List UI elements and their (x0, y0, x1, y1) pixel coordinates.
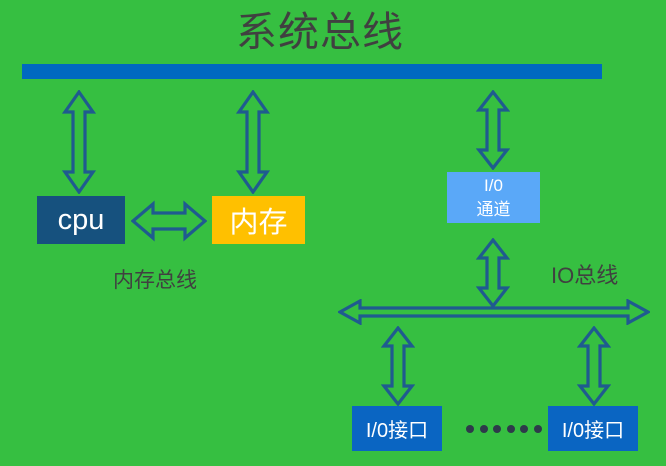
node-io-interface-right[interactable]: I/0接口 (548, 406, 638, 451)
io-bus-label: IO总线 (551, 258, 618, 290)
node-memory[interactable]: 内存 (212, 196, 305, 244)
connector-memory-to-system-bus (236, 90, 270, 194)
page-title: 系统总线 (0, 8, 640, 56)
connector-io-channel-to-system-bus (476, 90, 510, 170)
node-io-channel[interactable]: I/0 通道 (447, 172, 540, 223)
ellipsis-dot (507, 425, 515, 433)
io-bus-line (338, 299, 650, 325)
node-io-channel-label-line1: I/0 (484, 174, 503, 198)
node-cpu[interactable]: cpu (37, 196, 125, 244)
ellipsis-dot (493, 425, 501, 433)
node-memory-label: 内存 (229, 199, 287, 241)
system-bus-bar (22, 64, 602, 79)
memory-bus-label: 内存总线 (113, 264, 197, 294)
node-io-channel-label-line2: 通道 (477, 198, 511, 222)
ellipsis-dot (520, 425, 528, 433)
connector-io-bus-to-interface-left (381, 326, 415, 406)
ellipsis-dot (534, 425, 542, 433)
ellipsis-dot (480, 425, 488, 433)
connector-io-bus-to-interface-right (577, 326, 611, 406)
diagram-canvas: 系统总线 cpu 内存 I/0 通道 内存总线 (0, 0, 666, 466)
connector-cpu-to-system-bus (62, 90, 96, 194)
node-io-interface-left-label: I/0接口 (366, 414, 428, 443)
node-io-interface-right-label: I/0接口 (562, 414, 624, 443)
node-io-interface-left[interactable]: I/0接口 (352, 406, 442, 451)
node-cpu-label: cpu (58, 204, 105, 237)
ellipsis-dots (466, 421, 542, 437)
connector-cpu-to-memory (131, 200, 207, 242)
connector-io-channel-to-io-bus (476, 238, 510, 308)
ellipsis-dot (466, 425, 474, 433)
